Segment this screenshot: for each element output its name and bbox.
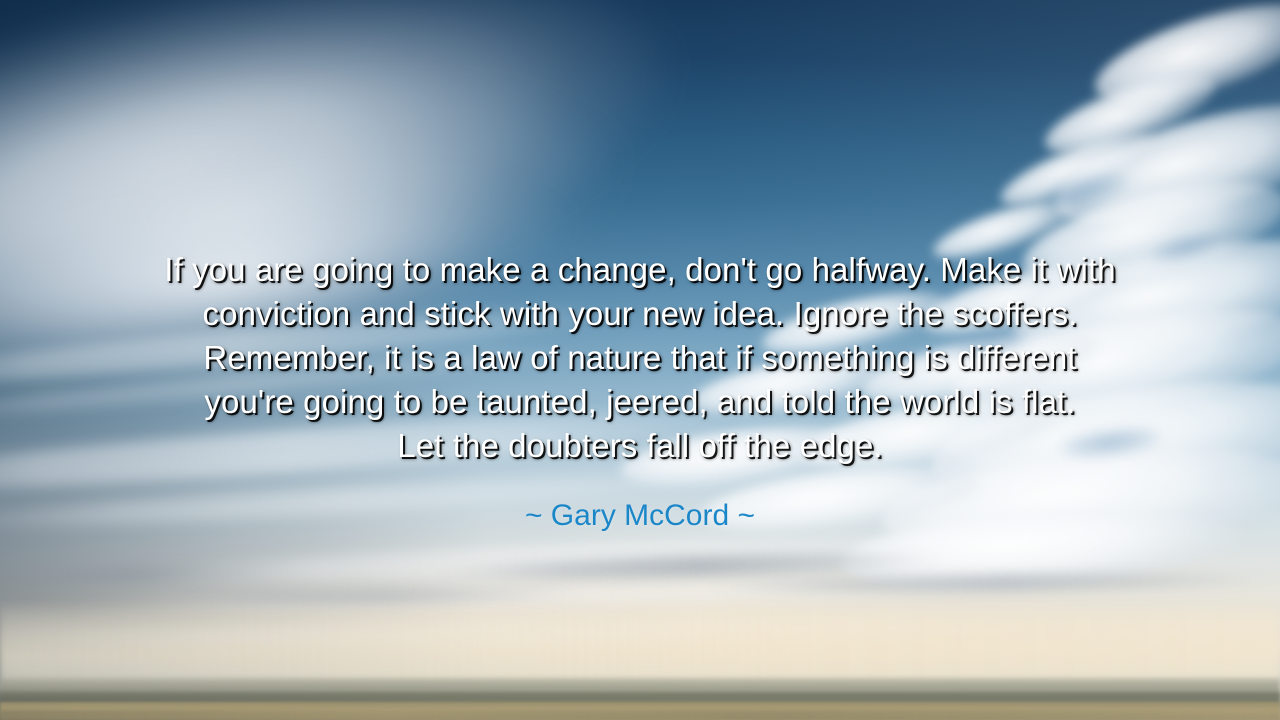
- foreground-landscape-detail: [0, 710, 1280, 720]
- horizon-warm-haze: [0, 612, 1280, 682]
- quote-block: If you are going to make a change, don't…: [0, 248, 1280, 468]
- quote-attribution: ~ Gary McCord ~: [0, 497, 1280, 535]
- quote-text: If you are going to make a change, don't…: [60, 248, 1220, 468]
- quote-image: If you are going to make a change, don't…: [0, 0, 1280, 720]
